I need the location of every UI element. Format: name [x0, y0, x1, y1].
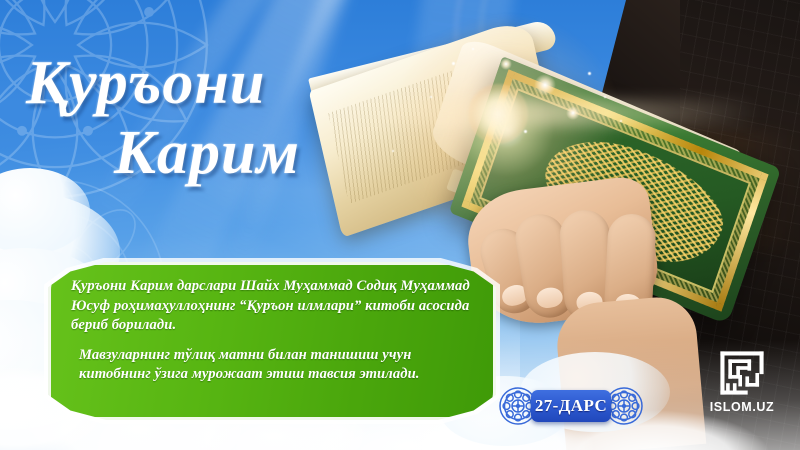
panel-paragraph-2: Мавзуларнинг тўлиқ матни билан танишиш у…: [71, 346, 477, 385]
lesson-badge[interactable]: 27-ДАРС: [498, 384, 644, 428]
sparkle-icon: [524, 130, 527, 133]
site-logo[interactable]: ISLOM.UZ: [700, 348, 784, 420]
sparkle-icon: [604, 96, 606, 98]
sparkle-icon: [392, 150, 394, 152]
logo-text: ISLOM.UZ: [710, 400, 775, 414]
sparkle-icon: [534, 74, 556, 96]
sparkle-icon: [452, 62, 455, 65]
panel-paragraph-1: Қуръони Карим дарслари Шайх Муҳаммад Сод…: [71, 277, 477, 336]
sparkle-icon: [472, 48, 474, 50]
description-panel: Қуръони Карим дарслари Шайх Муҳаммад Сод…: [48, 262, 496, 420]
fingernail: [535, 286, 564, 310]
lesson-number-pill[interactable]: 27-ДАРС: [531, 390, 611, 422]
sparkle-icon: [430, 96, 432, 98]
poster-canvas: Қуръони Карим Қуръони Карим дарслари Шай…: [0, 0, 800, 450]
sparkle-icon: [566, 106, 580, 120]
lesson-number-label: 27-ДАРС: [535, 396, 607, 416]
sparkle-icon: [588, 72, 591, 75]
kufic-calligraphy-icon: [717, 348, 767, 398]
sparkle-icon: [500, 58, 512, 70]
sparkle-icon: [620, 120, 622, 122]
glow-streak: [330, 100, 760, 126]
